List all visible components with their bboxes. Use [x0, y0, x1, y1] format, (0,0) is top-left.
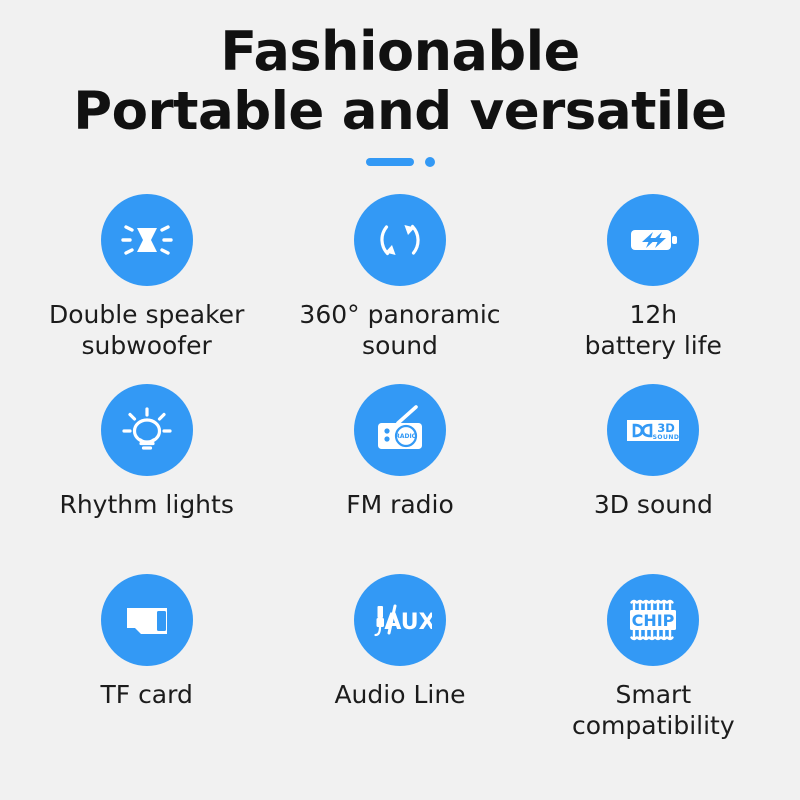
feature-label-smart-compatibility: Smart compatibility [572, 679, 735, 741]
3d-sound-logo-icon: 3D SOUND [607, 384, 699, 476]
feature-label-line-1: Rhythm lights [59, 490, 233, 519]
feature-label-double-speaker-subwoofer: Double speaker subwoofer [49, 299, 244, 361]
feature-label-line-2: compatibility [572, 711, 735, 740]
chip-text: CHIP [632, 611, 675, 630]
feature-label-line-2: battery life [585, 331, 722, 360]
feature-label-line-1: Audio Line [334, 680, 465, 709]
feature-label-rhythm-lights: Rhythm lights [59, 489, 233, 520]
divider-dot [425, 157, 435, 167]
feature-item-double-speaker-subwoofer[interactable]: Double speaker subwoofer [20, 194, 273, 384]
feature-label-line-1: FM radio [346, 490, 454, 519]
feature-item-smart-compatibility[interactable]: CHIP Smart compatibility [527, 574, 780, 764]
feature-item-12h-battery-life[interactable]: 12h battery life [527, 194, 780, 384]
feature-item-3d-sound[interactable]: 3D SOUND 3D sound [527, 384, 780, 574]
feature-label-line-1: TF card [100, 680, 192, 709]
feature-item-rhythm-lights[interactable]: Rhythm lights [20, 384, 273, 574]
feature-label-fm-radio: FM radio [346, 489, 454, 520]
tf-card-icon [101, 574, 193, 666]
feature-item-360-panoramic-sound[interactable]: 360° panoramic sound [273, 194, 526, 384]
feature-grid: Double speaker subwoofer 360° panoramic … [20, 194, 780, 764]
feature-label-line-2: sound [362, 331, 438, 360]
page-title-line-1: Fashionable [0, 22, 800, 82]
aux-text: AUX [384, 610, 432, 635]
page-title-line-2: Portable and versatile [0, 82, 800, 142]
promo-feature-page: Fashionable Portable and versatile [0, 0, 800, 800]
divider [366, 156, 435, 168]
feature-label-12h-battery-life: 12h battery life [585, 299, 722, 361]
page-title: Fashionable Portable and versatile [0, 22, 800, 142]
feature-label-line-2: subwoofer [82, 331, 212, 360]
feature-label-audio-line: Audio Line [334, 679, 465, 710]
sound-text: SOUND [653, 434, 680, 441]
feature-label-360-panoramic-sound: 360° panoramic sound [299, 299, 500, 361]
feature-label-line-1: Double speaker [49, 300, 244, 329]
battery-charging-icon [607, 194, 699, 286]
radio-icon: RADIO [354, 384, 446, 476]
aux-jack-icon: AUX [354, 574, 446, 666]
feature-label-line-1: 12h [629, 300, 677, 329]
chip-icon: CHIP [607, 574, 699, 666]
3d-text: 3D [658, 421, 676, 435]
feature-label-line-1: 360° panoramic [299, 300, 500, 329]
feature-item-fm-radio[interactable]: RADIO FM radio [273, 384, 526, 574]
feature-label-line-1: Smart [616, 680, 692, 709]
double-speaker-icon [101, 194, 193, 286]
feature-label-line-1: 3D sound [594, 490, 713, 519]
light-bulb-icon [101, 384, 193, 476]
divider-bar [366, 158, 414, 166]
feature-label-3d-sound: 3D sound [594, 489, 713, 520]
feature-item-tf-card[interactable]: TF card [20, 574, 273, 764]
panoramic-rotation-icon [354, 194, 446, 286]
feature-item-audio-line[interactable]: AUX Audio Line [273, 574, 526, 764]
feature-label-tf-card: TF card [100, 679, 192, 710]
radio-badge-text: RADIO [395, 433, 417, 440]
